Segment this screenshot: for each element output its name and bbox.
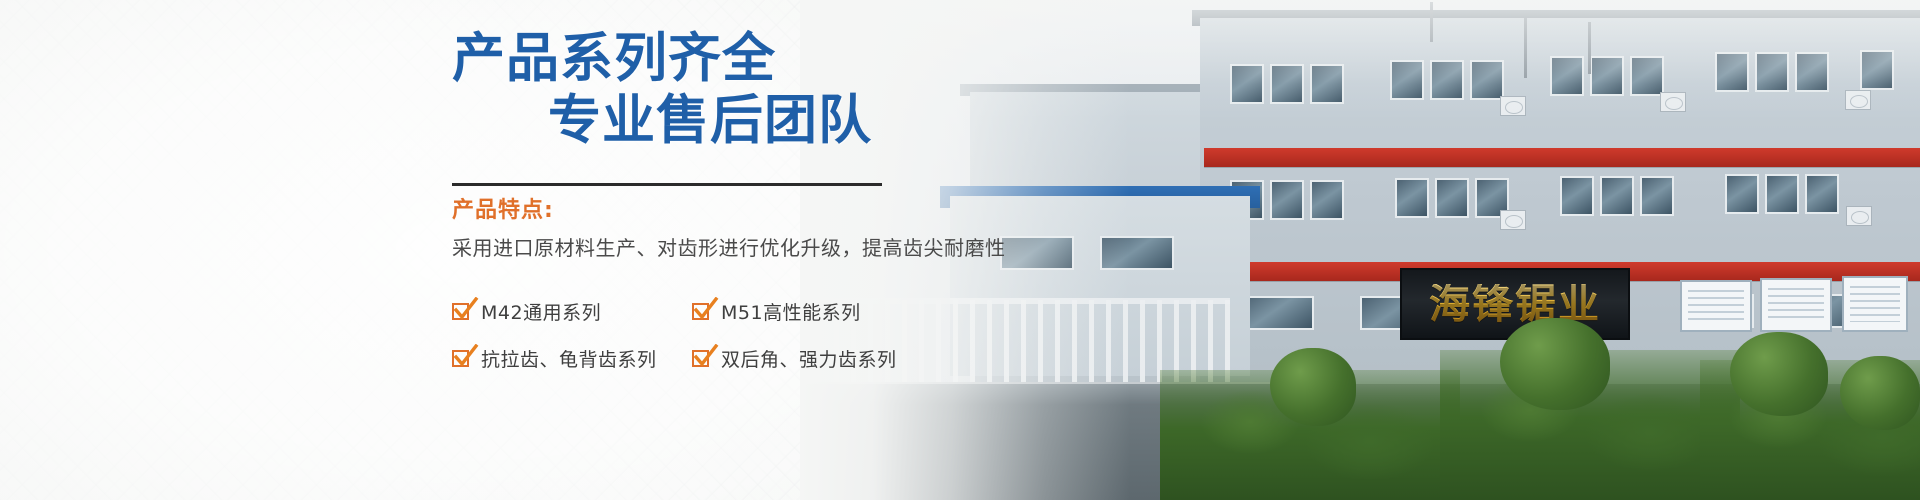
- notice-board: [1760, 278, 1832, 332]
- check-box-icon: [692, 303, 709, 320]
- notice-board: [1842, 276, 1908, 332]
- list-item: M42通用系列: [452, 288, 692, 335]
- window: [1310, 180, 1344, 220]
- company-sign-text: 海锋锯业: [1429, 284, 1601, 325]
- tree: [1500, 318, 1610, 410]
- list-item: 双后角、强力齿系列: [692, 335, 932, 382]
- notice-board: [1680, 280, 1752, 332]
- check-box-icon: [452, 303, 469, 320]
- air-conditioner-unit: [1846, 206, 1872, 226]
- window: [1640, 176, 1674, 216]
- company-signboard: 海锋锯业: [1400, 268, 1630, 340]
- window: [1805, 174, 1839, 214]
- window: [1765, 174, 1799, 214]
- list-item-label: M51高性能系列: [721, 298, 861, 325]
- facade-red-stripe-upper: [1204, 148, 1920, 167]
- air-conditioner-unit: [1500, 210, 1526, 230]
- window: [1600, 176, 1634, 216]
- list-item-label: M42通用系列: [481, 298, 601, 325]
- headline: 产品系列齐全 专业售后团队: [452, 28, 872, 152]
- window: [1725, 174, 1759, 214]
- window: [1435, 178, 1469, 218]
- feature-description: 采用进口原材料生产、对齿形进行优化升级，提高齿尖耐磨性: [452, 232, 1006, 261]
- window: [1240, 296, 1314, 330]
- window: [1270, 180, 1304, 220]
- window: [1395, 178, 1429, 218]
- promo-banner: 海锋锯业 产品系列齐全 专业售后团队 产品特点: 采用进口原材料生产、对齿形进行…: [0, 0, 1920, 500]
- window: [1560, 176, 1594, 216]
- check-box-icon: [452, 350, 469, 367]
- list-item: M51高性能系列: [692, 288, 932, 335]
- list-item-label: 抗拉齿、龟背齿系列: [481, 345, 657, 372]
- headline-divider: [452, 183, 882, 186]
- banner-content: 产品系列齐全 专业售后团队 产品特点: 采用进口原材料生产、对齿形进行优化升级，…: [0, 0, 1000, 500]
- tree: [1730, 332, 1828, 416]
- headline-line-2: 专业售后团队: [452, 90, 872, 152]
- tree: [1840, 356, 1920, 430]
- feature-title: 产品特点:: [452, 192, 554, 224]
- check-box-icon: [692, 350, 709, 367]
- feature-list: M42通用系列 M51高性能系列 抗拉齿、龟背齿系列: [452, 288, 932, 382]
- list-item-label: 双后角、强力齿系列: [721, 345, 897, 372]
- headline-line-1: 产品系列齐全: [452, 28, 872, 90]
- list-item: 抗拉齿、龟背齿系列: [452, 335, 692, 382]
- tree: [1270, 348, 1356, 426]
